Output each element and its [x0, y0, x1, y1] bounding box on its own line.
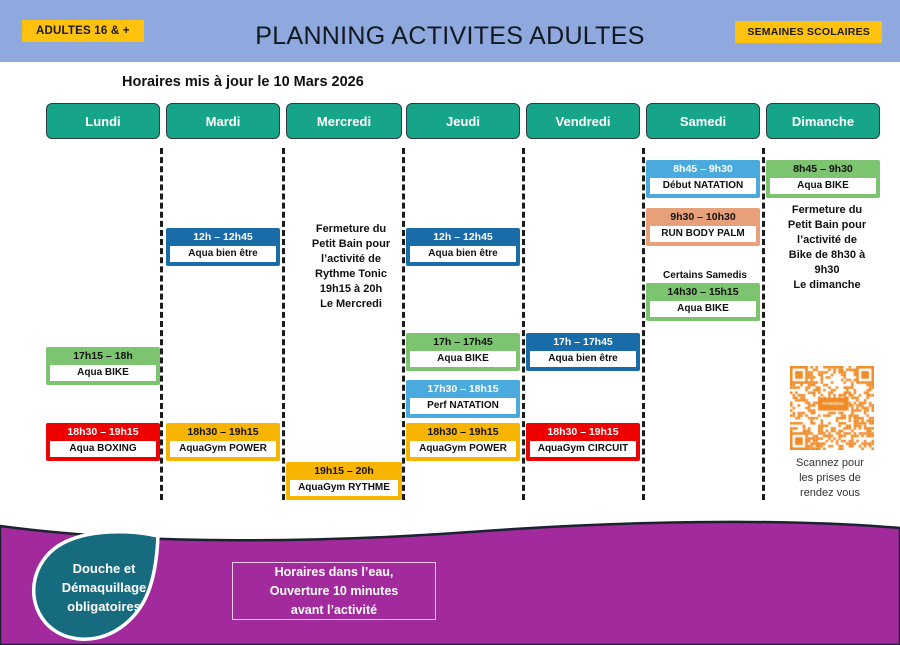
- activity-name: AquaGym RYTHME: [290, 480, 398, 496]
- wednesday-closure-note: Fermeture duPetit Bain pourl’activité de…: [292, 222, 410, 312]
- activity-slot[interactable]: 8h45 – 9h30Début NATATION: [646, 160, 760, 198]
- activity-slot[interactable]: 18h30 – 19h15AquaGym CIRCUIT: [526, 423, 640, 461]
- activity-slot[interactable]: 12h – 12h45Aqua bien être: [406, 228, 520, 266]
- activity-time: 17h15 – 18h: [50, 350, 156, 363]
- column-separator-2: [282, 148, 285, 500]
- activity-name: Aqua bien être: [530, 351, 636, 367]
- activity-name: RUN BODY PALM: [650, 226, 756, 242]
- activity-slot[interactable]: 14h30 – 15h15Aqua BIKE: [646, 283, 760, 321]
- day-header-mercredi: Mercredi: [286, 103, 402, 139]
- column-separator-6: [762, 148, 765, 500]
- activity-slot[interactable]: 17h30 – 18h15Perf NATATION: [406, 380, 520, 418]
- activity-time: 8h45 – 9h30: [770, 163, 876, 176]
- day-header-label: Jeudi: [446, 114, 480, 129]
- schedule-notice-box: Horaires dans l’eau,Ouverture 10 minutes…: [232, 562, 436, 620]
- day-header-label: Lundi: [85, 114, 120, 129]
- day-header-label: Mardi: [206, 114, 241, 129]
- activity-slot[interactable]: 18h30 – 19h15AquaGym POWER: [166, 423, 280, 461]
- activity-time: 8h45 – 9h30: [650, 163, 756, 176]
- hygiene-notice-text: Douche etDémaquillageobligatoires: [38, 559, 170, 616]
- activity-slot[interactable]: 19h15 – 20hAquaGym RYTHME: [286, 462, 402, 500]
- day-header-dimanche: Dimanche: [766, 103, 880, 139]
- activity-name: AquaGym POWER: [410, 441, 516, 457]
- activity-slot[interactable]: 12h – 12h45Aqua bien être: [166, 228, 280, 266]
- day-header-mardi: Mardi: [166, 103, 280, 139]
- activity-time: 17h30 – 18h15: [410, 383, 516, 396]
- qr-canvas: [790, 366, 874, 450]
- activity-name: Aqua BIKE: [650, 301, 756, 317]
- footer: Douche etDémaquillageobligatoires Horair…: [0, 512, 900, 645]
- day-header-vendredi: Vendredi: [526, 103, 640, 139]
- appointment-qr-code[interactable]: [790, 366, 874, 450]
- activity-slot[interactable]: 8h45 – 9h30Aqua BIKE: [766, 160, 880, 198]
- activity-slot[interactable]: 17h15 – 18hAqua BIKE: [46, 347, 160, 385]
- activity-name: Aqua BIKE: [50, 365, 156, 381]
- qr-caption: Scannez pourles prises derendez vous: [760, 456, 900, 501]
- activity-name: Début NATATION: [650, 178, 756, 194]
- day-header-jeudi: Jeudi: [406, 103, 520, 139]
- column-separator-4: [522, 148, 525, 500]
- activity-time: 17h – 17h45: [410, 336, 516, 349]
- activity-slot[interactable]: 18h30 – 19h15AquaGym POWER: [406, 423, 520, 461]
- activity-slot[interactable]: 17h – 17h45Aqua BIKE: [406, 333, 520, 371]
- activity-name: Aqua BOXING: [50, 441, 156, 457]
- activity-time: 9h30 – 10h30: [650, 211, 756, 224]
- column-separator-1: [160, 148, 163, 500]
- activity-name: Aqua bien être: [170, 246, 276, 262]
- activity-time: 14h30 – 15h15: [650, 286, 756, 299]
- activity-slot[interactable]: 18h30 – 19h15Aqua BOXING: [46, 423, 160, 461]
- activity-name: Perf NATATION: [410, 398, 516, 414]
- day-header-label: Dimanche: [792, 114, 854, 129]
- activity-name: AquaGym POWER: [170, 441, 276, 457]
- day-header-label: Vendredi: [556, 114, 611, 129]
- activity-name: Aqua bien être: [410, 246, 516, 262]
- activity-time: 18h30 – 19h15: [410, 426, 516, 439]
- activity-time: 18h30 – 19h15: [530, 426, 636, 439]
- day-header-lundi: Lundi: [46, 103, 160, 139]
- day-header-samedi: Samedi: [646, 103, 760, 139]
- day-header-label: Mercredi: [317, 114, 371, 129]
- column-separator-3: [402, 148, 405, 500]
- activity-slot[interactable]: 9h30 – 10h30RUN BODY PALM: [646, 208, 760, 246]
- activity-time: 18h30 – 19h15: [50, 426, 156, 439]
- sunday-closure-note: Fermeture duPetit Bain pourl’activité de…: [772, 203, 882, 293]
- activity-time: 12h – 12h45: [170, 231, 276, 244]
- saturday-prefix-note: Certains Samedis: [650, 270, 760, 281]
- activity-time: 17h – 17h45: [530, 336, 636, 349]
- day-header-label: Samedi: [680, 114, 726, 129]
- activity-time: 18h30 – 19h15: [170, 426, 276, 439]
- schedule-notice-text: Horaires dans l’eau,Ouverture 10 minutes…: [270, 563, 399, 620]
- activity-name: Aqua BIKE: [770, 178, 876, 194]
- planning-grid: Fermeture duPetit Bain pourl’activité de…: [0, 0, 900, 520]
- activity-slot[interactable]: 17h – 17h45Aqua bien être: [526, 333, 640, 371]
- column-separator-5: [642, 148, 645, 500]
- activity-name: Aqua BIKE: [410, 351, 516, 367]
- activity-time: 19h15 – 20h: [290, 465, 398, 478]
- activity-time: 12h – 12h45: [410, 231, 516, 244]
- activity-name: AquaGym CIRCUIT: [530, 441, 636, 457]
